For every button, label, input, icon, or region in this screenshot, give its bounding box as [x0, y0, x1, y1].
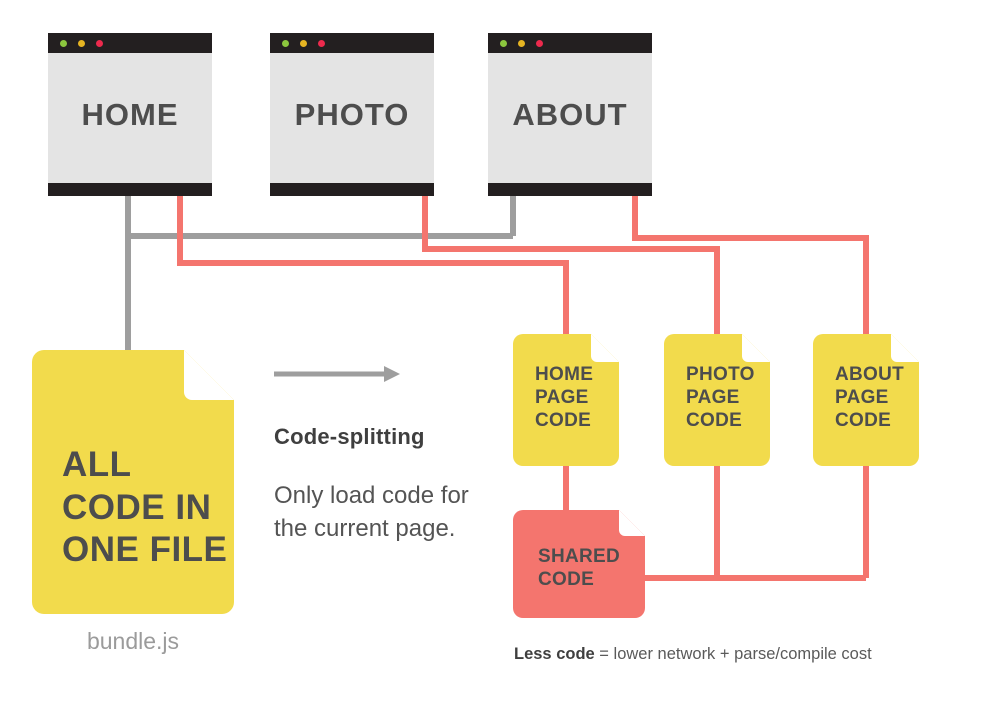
code-splitting-explainer: Code-splitting Only load code for the cu…	[274, 364, 474, 545]
footnote: Less code = lower network + parse/compil…	[514, 645, 872, 664]
browser-footbar	[48, 183, 212, 196]
browser-footbar	[488, 183, 652, 196]
code-splitting-body: Only load code for the current page.	[274, 480, 474, 545]
file-card-photo-chunk[interactable]: PHOTO PAGE CODE	[664, 334, 770, 466]
file-card-bundle-label: ALL CODE IN ONE FILE	[32, 444, 234, 572]
browser-window-about[interactable]: ABOUT	[488, 33, 652, 196]
file-card-about-chunk-label: ABOUT PAGE CODE	[813, 363, 919, 433]
file-card-home-chunk-label: HOME PAGE CODE	[513, 363, 619, 433]
code-splitting-title: Code-splitting	[274, 424, 474, 450]
browser-window-photo[interactable]: PHOTO	[270, 33, 434, 196]
footnote-strong: Less code	[514, 645, 595, 663]
file-card-home-chunk[interactable]: HOME PAGE CODE	[513, 334, 619, 466]
file-card-shared-code-label: SHARED CODE	[513, 545, 645, 591]
diagram-canvas: HOME PHOTO ABOUT	[0, 0, 995, 715]
browser-title-about: ABOUT	[488, 33, 652, 196]
browser-window-home[interactable]: HOME	[48, 33, 212, 196]
file-card-shared-code[interactable]: SHARED CODE	[513, 510, 645, 618]
footnote-rest: = lower network + parse/compile cost	[595, 645, 872, 663]
bundle-filename-caption: bundle.js	[32, 628, 234, 655]
browser-footbar	[270, 183, 434, 196]
file-card-bundle[interactable]: ALL CODE IN ONE FILE	[32, 350, 234, 614]
browser-title-photo: PHOTO	[270, 33, 434, 196]
file-card-about-chunk[interactable]: ABOUT PAGE CODE	[813, 334, 919, 466]
browser-title-home: HOME	[48, 33, 212, 196]
arrow-right-icon	[274, 364, 404, 386]
file-card-photo-chunk-label: PHOTO PAGE CODE	[664, 363, 770, 433]
